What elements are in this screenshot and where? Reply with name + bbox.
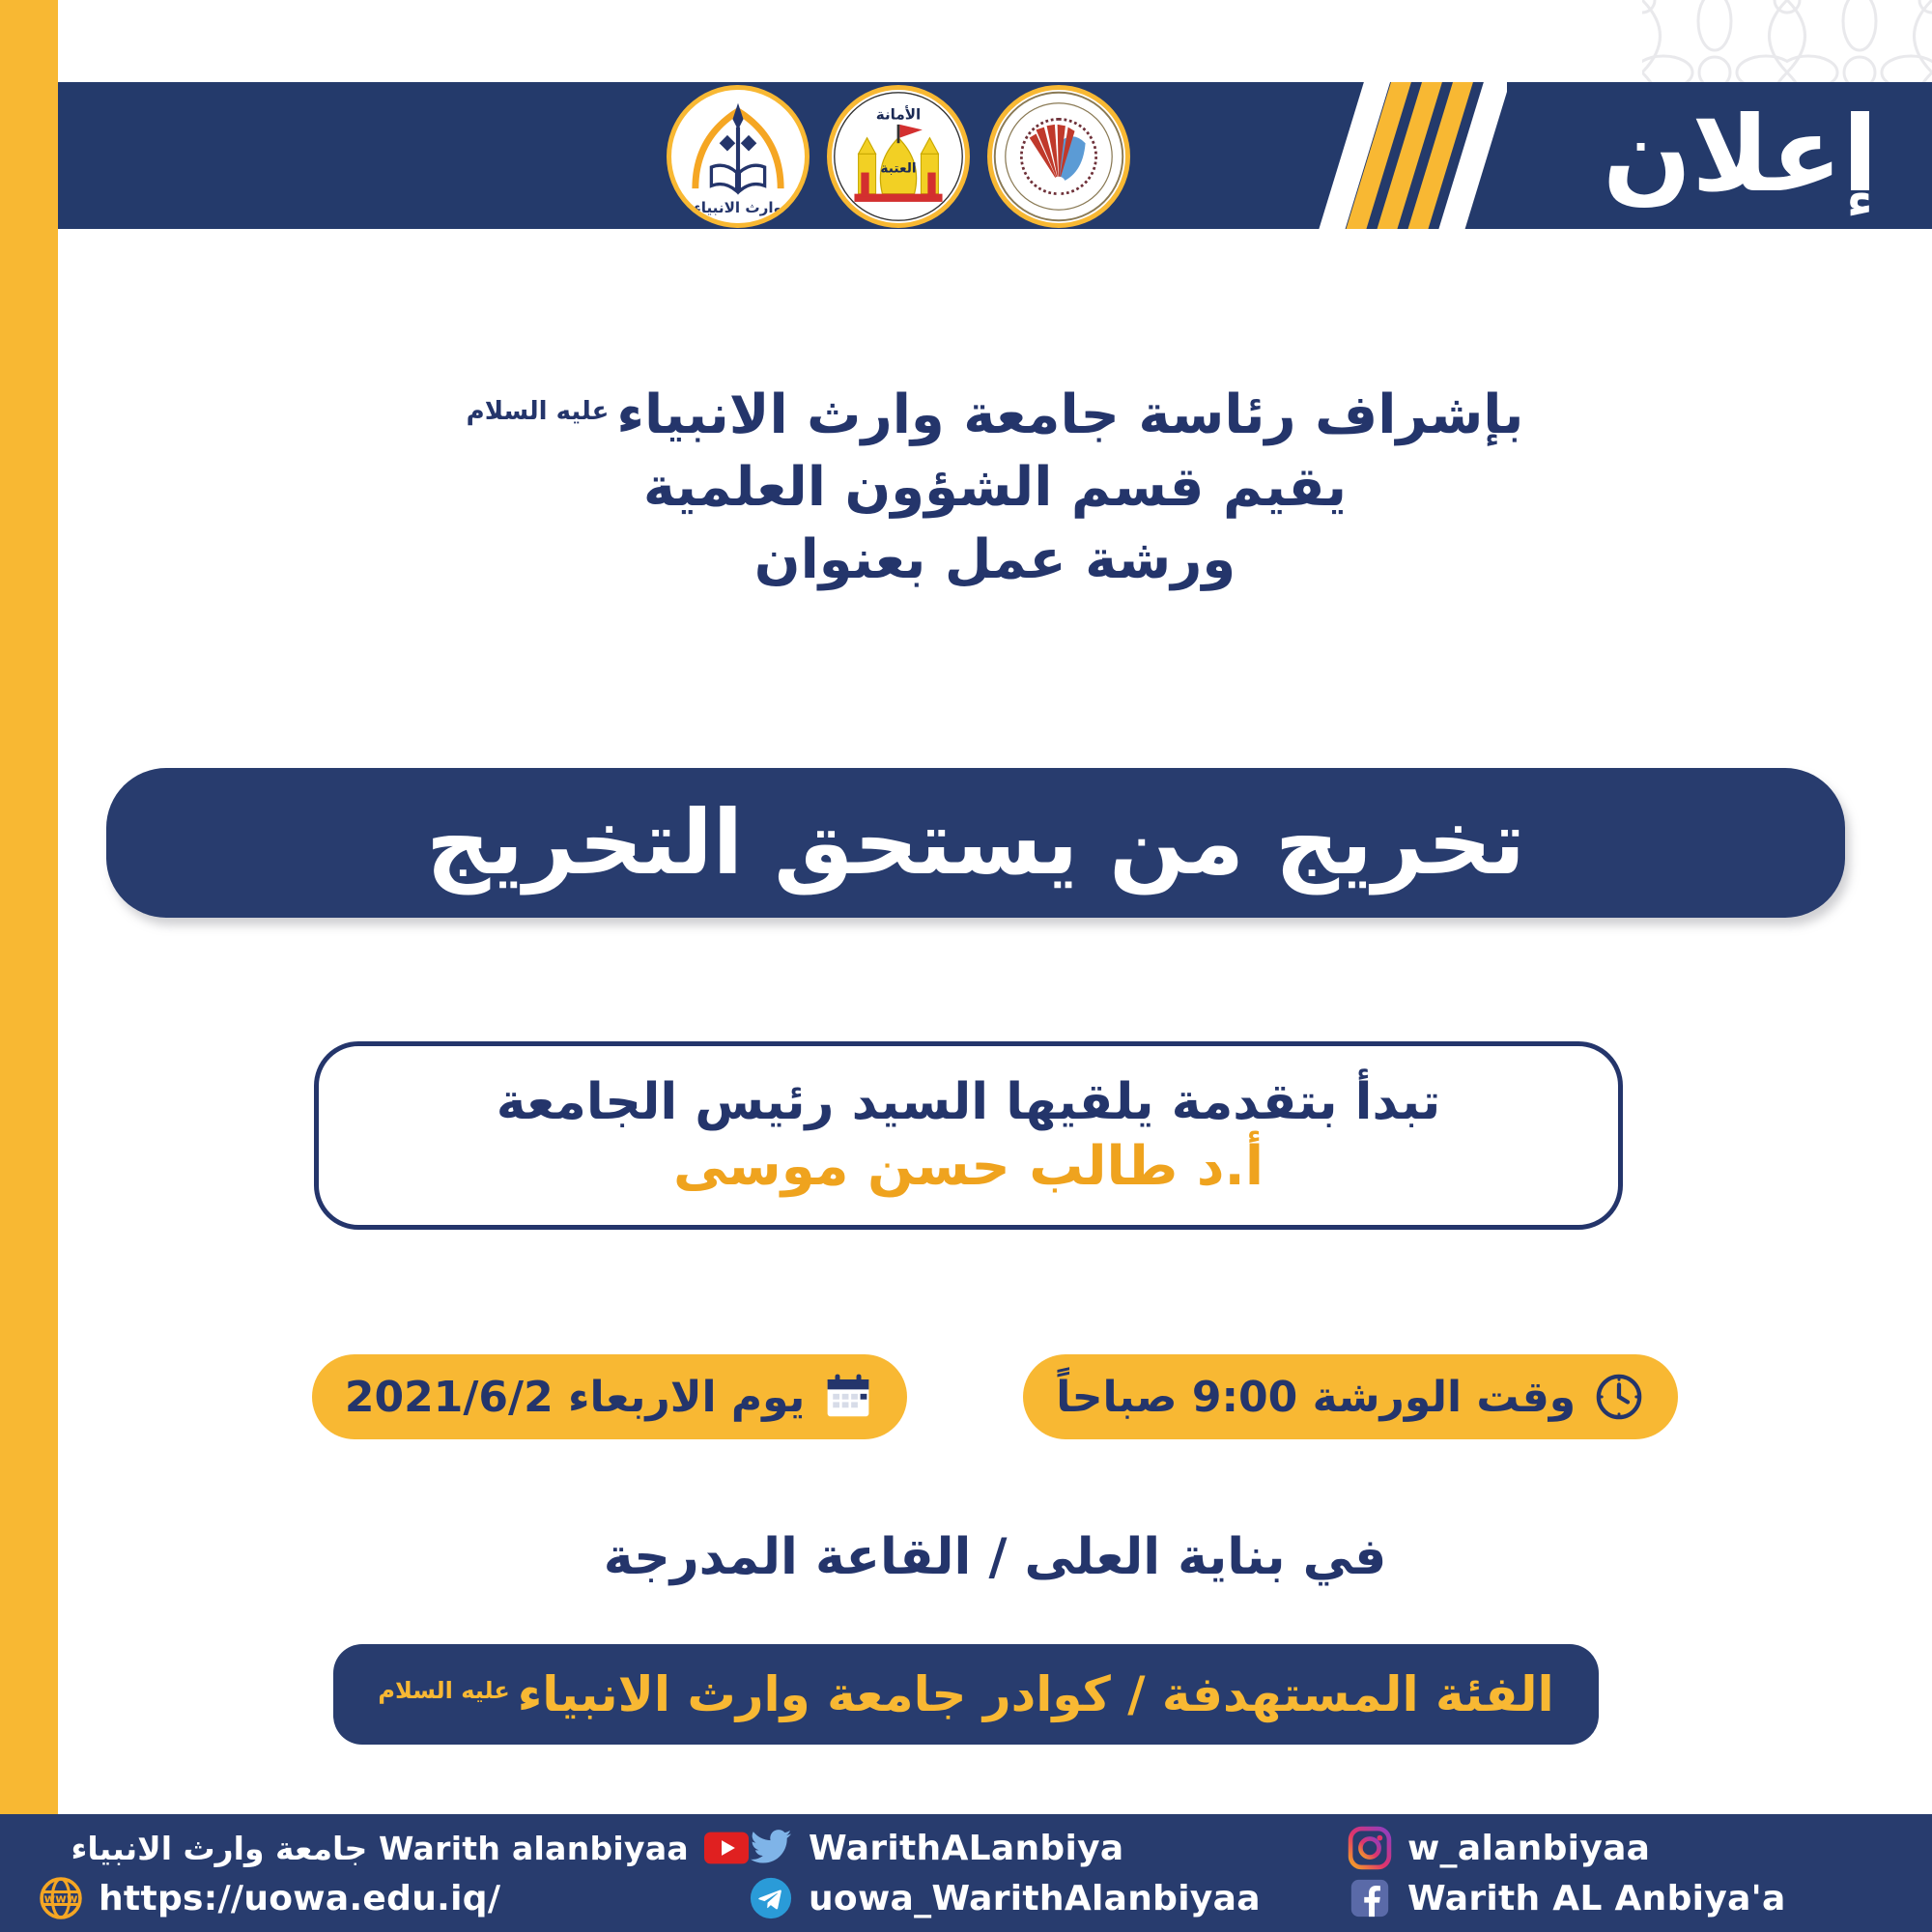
intro-line-2: يقيم قسم الشؤون العلمية [58, 451, 1932, 524]
telegram-row[interactable]: uowa_WarithAlanbiyaa [749, 1876, 1348, 1920]
target-audience-bar: الفئة المستهدفة / كوادر جامعة وارث الانب… [333, 1644, 1599, 1745]
target-audience-text: الفئة المستهدفة / كوادر جامعة وارث الانب… [518, 1666, 1554, 1722]
holy-hussaini-shrine-logo: الأمانة العتبة [827, 85, 970, 228]
time-badge: وقت الورشة 9:00 صباحاً [1023, 1354, 1678, 1439]
svg-text:وارث الانبياء: وارث الانبياء [694, 199, 782, 216]
svg-text:www: www [43, 1891, 77, 1906]
website-row[interactable]: www https://uowa.edu.iq/ [39, 1876, 749, 1920]
speaker-box: تبدأ بتقدمة يلقيها السيد رئيس الجامعة أ.… [314, 1041, 1623, 1230]
footer-column-middle: WarithALanbiya uowa_WarithAlanbiyaa [749, 1814, 1348, 1932]
university-warith-alanbiyaa-logo: وارث الانبياء [667, 85, 810, 228]
intro-line-1-text: بإشراف رئاسة جامعة وارث الانبياء [616, 384, 1523, 446]
facebook-icon [1348, 1876, 1392, 1920]
clock-icon [1593, 1371, 1645, 1423]
logo-group: الأمانة العتبة [667, 85, 1130, 228]
website-url: https://uowa.edu.iq/ [99, 1879, 500, 1918]
footer-social-bar: Warith alanbiyaa جامعة وارث الانبياء www… [0, 1814, 1932, 1932]
time-badge-text: وقت الورشة 9:00 صباحاً [1056, 1373, 1576, 1422]
footer-column-left: w_alanbiyaa Warith AL Anbiya'a [1348, 1814, 1889, 1932]
date-badge: يوم الاربعاء 2021/6/2 [312, 1354, 907, 1439]
facebook-row[interactable]: Warith AL Anbiya'a [1348, 1876, 1889, 1920]
twitter-handle: WarithALanbiya [809, 1829, 1123, 1868]
youtube-icon [704, 1826, 749, 1870]
speaker-name: أ.د طالب حسن موسى [673, 1135, 1264, 1198]
speaker-intro-text: تبدأ بتقدمة يلقيها السيد رئيس الجامعة [497, 1073, 1441, 1131]
venue-text: في بناية العلى / القاعة المدرجة [58, 1528, 1932, 1586]
telegram-icon [749, 1876, 793, 1920]
date-badge-text: يوم الاربعاء 2021/6/2 [345, 1373, 805, 1422]
ministry-higher-education-logo [987, 85, 1130, 228]
info-badges-row: يوم الاربعاء 2021/6/2 وقت الورشة 9:00 صب… [58, 1354, 1932, 1439]
facebook-handle: Warith AL Anbiya'a [1407, 1879, 1786, 1918]
instagram-icon [1348, 1826, 1392, 1870]
footer-column-right: Warith alanbiyaa جامعة وارث الانبياء www… [39, 1814, 749, 1932]
telegram-handle: uowa_WarithAlanbiyaa [809, 1879, 1261, 1918]
instagram-row[interactable]: w_alanbiyaa [1348, 1826, 1889, 1870]
intro-line-3: ورشة عمل بعنوان [58, 524, 1932, 596]
youtube-handle: Warith alanbiyaa جامعة وارث الانبياء [71, 1830, 689, 1867]
calendar-icon [822, 1371, 874, 1423]
workshop-title: تخريج من يستحق التخريج [426, 791, 1525, 895]
honorific-mark-audience: عليه السلام [378, 1677, 509, 1704]
instagram-handle: w_alanbiyaa [1407, 1829, 1650, 1868]
globe-www-icon: www [39, 1876, 83, 1920]
diagonal-stripes-decoration [1285, 82, 1507, 229]
left-accent-strip [0, 0, 58, 1814]
page-title: إعلان [1603, 103, 1878, 208]
honorific-mark: عليه السلام [467, 395, 610, 429]
svg-text:الأمانة: الأمانة [876, 104, 922, 123]
youtube-row[interactable]: Warith alanbiyaa جامعة وارث الانبياء [39, 1826, 749, 1870]
svg-text:العتبة: العتبة [880, 161, 916, 177]
target-audience-text-wrap: الفئة المستهدفة / كوادر جامعة وارث الانب… [378, 1666, 1553, 1722]
intro-line-1: بإشراف رئاسة جامعة وارث الانبياءعليه الس… [58, 379, 1932, 451]
intro-text-block: بإشراف رئاسة جامعة وارث الانبياءعليه الس… [58, 379, 1932, 596]
twitter-icon [749, 1826, 793, 1870]
twitter-row[interactable]: WarithALanbiya [749, 1826, 1348, 1870]
announcement-poster: إعلان [0, 0, 1932, 1932]
workshop-title-banner: تخريج من يستحق التخريج [106, 768, 1845, 918]
